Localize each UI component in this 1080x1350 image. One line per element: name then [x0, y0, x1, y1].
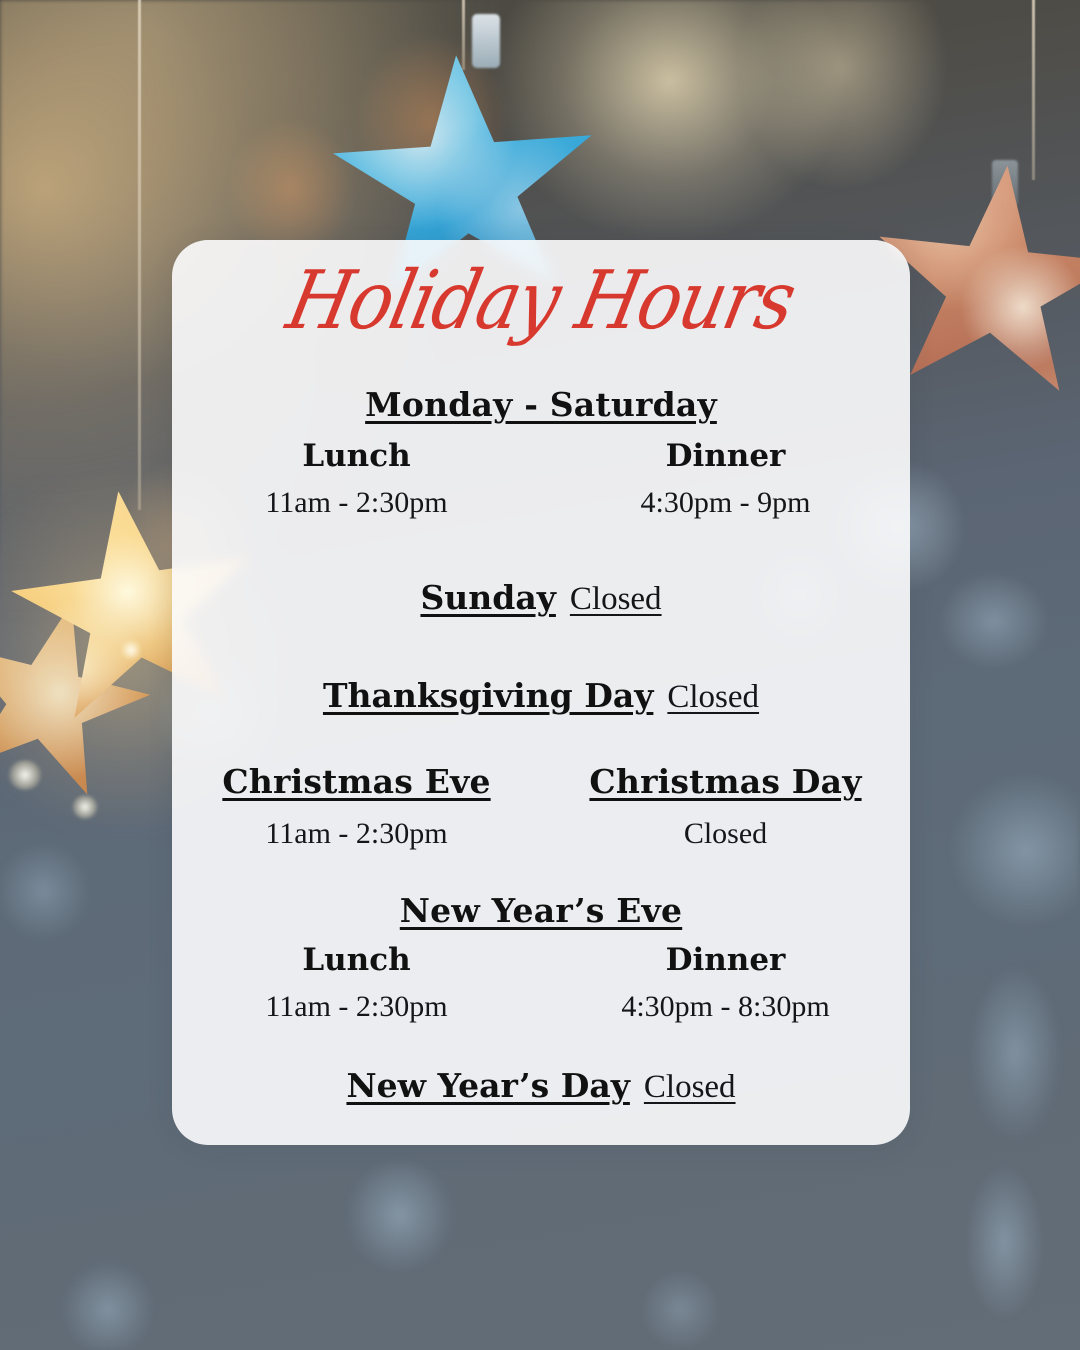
christmas-day-heading: Christmas Day: [541, 762, 910, 801]
christmas-eve-heading: Christmas Eve: [172, 762, 541, 801]
schedule-block-new-years-day: New Year’s DayClosed: [172, 1066, 910, 1106]
weekdays-lunch-value: 11am - 2:30pm: [172, 486, 541, 520]
new-years-eve-heading: New Year’s Eve: [172, 891, 910, 930]
holiday-hours-graphic: Holiday Hours Monday - Saturday Lunch 11…: [0, 0, 1080, 1350]
new-years-day-label: New Year’s Day: [346, 1066, 629, 1105]
page-title: Holiday Hours: [162, 253, 920, 347]
nye-lunch-label: Lunch: [172, 942, 541, 978]
christmas-eve-label: Christmas Eve: [222, 762, 490, 801]
christmas-day-value: Closed: [541, 817, 910, 851]
schedule-block-sunday: SundayClosed: [172, 578, 910, 618]
ornament-cap: [472, 14, 500, 68]
nye-dinner-value: 4:30pm - 8:30pm: [541, 990, 910, 1024]
schedule-block-weekdays: Monday - Saturday Lunch 11am - 2:30pm Di…: [172, 385, 910, 520]
sparkle-icon: [72, 795, 98, 819]
schedule-block-thanksgiving: Thanksgiving DayClosed: [172, 676, 910, 716]
weekdays-dinner-value: 4:30pm - 9pm: [541, 486, 910, 520]
weekdays-lunch-label: Lunch: [172, 438, 541, 474]
new-years-eve-heading-label: New Year’s Eve: [400, 891, 682, 930]
hours-list: Monday - Saturday Lunch 11am - 2:30pm Di…: [172, 385, 910, 1106]
nye-lunch-value: 11am - 2:30pm: [172, 990, 541, 1024]
weekdays-heading-label: Monday - Saturday: [365, 385, 717, 424]
schedule-block-new-years-eve: New Year’s Eve Lunch 11am - 2:30pm Dinne…: [172, 891, 910, 1024]
new-years-eve-columns: Lunch 11am - 2:30pm Dinner 4:30pm - 8:30…: [172, 942, 910, 1024]
sunday-label: Sunday: [420, 578, 555, 617]
hanging-cord: [462, 0, 465, 70]
hanging-cord: [138, 0, 141, 510]
sparkle-icon: [8, 760, 42, 790]
thanksgiving-label: Thanksgiving Day: [323, 676, 653, 715]
hours-card: Holiday Hours Monday - Saturday Lunch 11…: [172, 240, 910, 1145]
christmas-day-label: Christmas Day: [589, 762, 861, 801]
new-years-day-state: Closed: [644, 1069, 736, 1105]
hanging-cord: [1032, 0, 1035, 180]
nye-dinner-label: Dinner: [541, 942, 910, 978]
christmas-eve-value: 11am - 2:30pm: [172, 817, 541, 851]
schedule-block-christmas: Christmas Eve 11am - 2:30pm Christmas Da…: [172, 762, 910, 851]
weekdays-columns: Lunch 11am - 2:30pm Dinner 4:30pm - 9pm: [172, 438, 910, 520]
thanksgiving-state: Closed: [667, 679, 759, 715]
weekdays-heading: Monday - Saturday: [172, 385, 910, 424]
sparkle-icon: [120, 640, 142, 660]
sunday-state: Closed: [570, 581, 662, 617]
weekdays-dinner-label: Dinner: [541, 438, 910, 474]
